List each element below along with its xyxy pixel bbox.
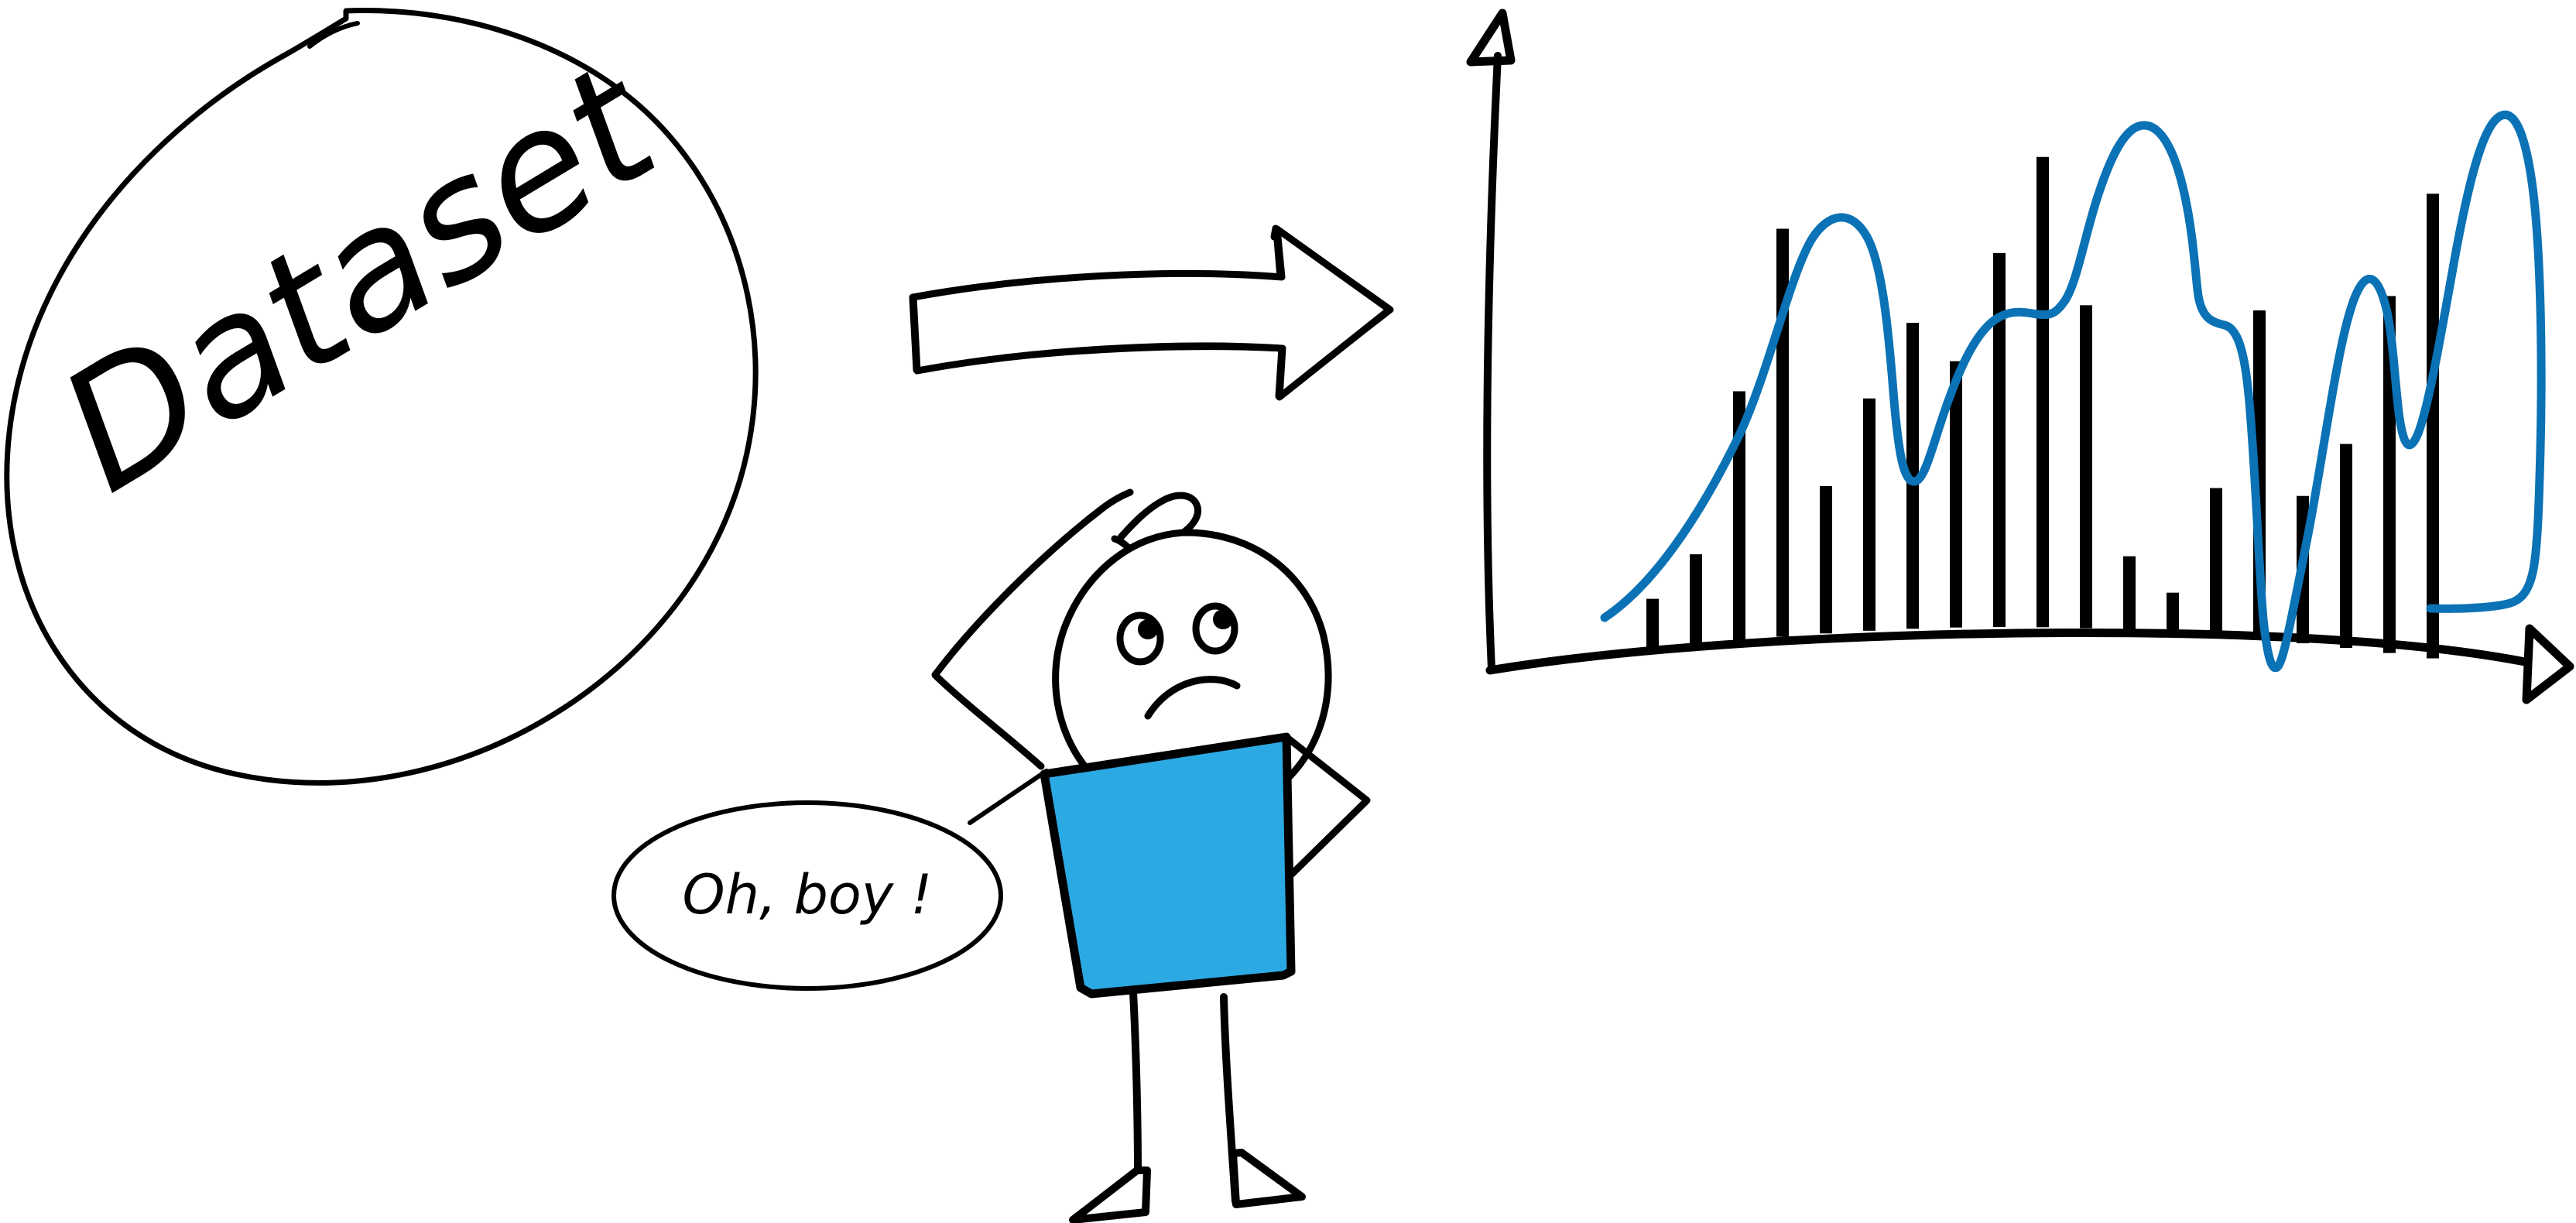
right-eye-pupil [1213,609,1233,629]
bar [2427,194,2439,658]
bar [2123,557,2136,630]
chart-bars [1646,157,2439,659]
left-foot [1073,1170,1147,1220]
bar [2340,444,2352,649]
transformation-arrow[interactable] [913,228,1390,397]
bar [1863,399,1875,631]
right-foot [1233,1153,1302,1204]
left-eye-pupil [1138,619,1158,639]
dataset-label: Dataset [29,27,690,529]
chart-x-axis [1490,632,2525,670]
sketch-svg: Dataset Oh, boy ! [0,0,2576,1223]
histogram-chart[interactable] [1471,13,2570,700]
chart-y-axis [1487,56,1498,669]
speech-bubble[interactable]: Oh, boy ! [614,771,1046,988]
chart-x-axis-arrowhead [2526,629,2570,700]
shirt [1044,737,1291,994]
bar [2080,305,2092,628]
dataset-blob-group[interactable]: Dataset [7,11,755,783]
illustration-canvas: Dataset Oh, boy ! [0,0,2576,1223]
transformation-arrow-outline-clean [913,229,1389,397]
bar [1820,486,1832,633]
bar [2210,488,2222,635]
speech-bubble-text: Oh, boy ! [683,863,933,927]
bar [2036,157,2049,628]
bar [1993,253,2006,627]
confused-person[interactable] [935,492,1367,1220]
speech-bubble-tail [970,771,1046,823]
chart-y-axis-arrowhead [1471,13,1511,62]
bar [1690,554,1702,645]
bar [2167,593,2179,632]
left-leg [1133,992,1138,1172]
bar [1646,599,1659,650]
